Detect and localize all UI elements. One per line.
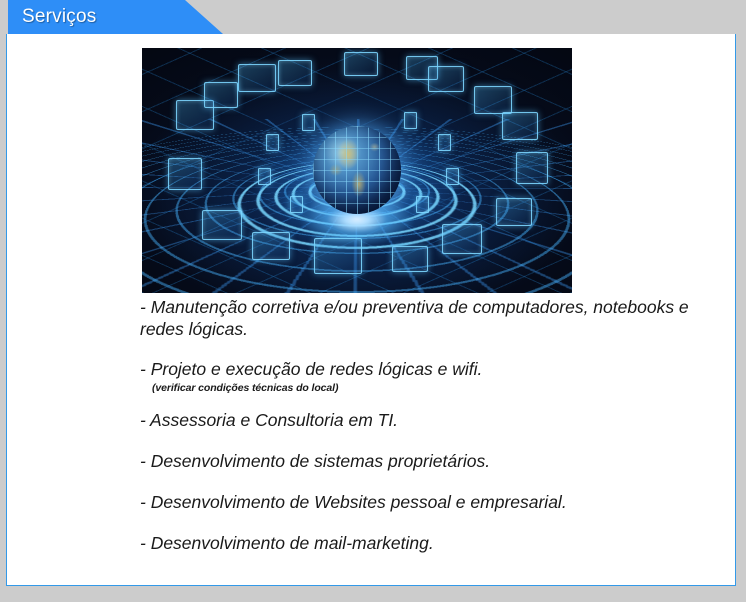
content-panel: - Manutenção corretiva e/ou preventiva d… <box>6 33 736 586</box>
service-item: - Projeto e execução de redes lógicas e … <box>140 358 700 380</box>
device-monitor-icon <box>202 210 242 240</box>
device-monitor-icon <box>474 86 512 114</box>
service-item: - Assessoria e Consultoria em TI. <box>140 409 700 431</box>
globe-icon <box>313 126 401 214</box>
document-icon <box>404 112 417 129</box>
document-icon <box>416 196 429 213</box>
device-monitor-icon <box>502 112 538 140</box>
tab-servicos-label: Serviços <box>22 5 223 29</box>
service-item: - Desenvolvimento de mail-marketing. <box>140 532 700 554</box>
document-icon <box>266 134 279 151</box>
document-icon <box>438 134 451 151</box>
device-monitor-icon <box>496 198 532 226</box>
device-monitor-icon <box>252 232 290 260</box>
document-icon <box>446 168 459 185</box>
device-monitor-icon <box>516 152 548 184</box>
device-monitor-icon <box>392 246 428 272</box>
globe-wire-grid <box>313 126 401 214</box>
tab-bar: Serviços <box>0 0 746 34</box>
document-icon <box>302 114 315 131</box>
service-item: - Desenvolvimento de Websites pessoal e … <box>140 491 700 513</box>
global-network-illustration <box>142 48 572 293</box>
tab-servicos[interactable]: Serviços <box>8 0 223 34</box>
document-icon <box>258 168 271 185</box>
services-list: - Manutenção corretiva e/ou preventiva d… <box>140 296 700 573</box>
content-inner: - Manutenção corretiva e/ou preventiva d… <box>7 34 735 585</box>
service-item-note: (verificar condições técnicas do local) <box>152 382 700 395</box>
device-monitor-icon <box>428 66 464 92</box>
device-monitor-icon <box>278 60 312 86</box>
device-monitor-icon <box>442 224 482 254</box>
device-monitor-icon <box>344 52 378 76</box>
service-item: - Desenvolvimento de sistemas proprietár… <box>140 450 700 472</box>
device-monitor-icon <box>238 64 276 92</box>
service-item: - Manutenção corretiva e/ou preventiva d… <box>140 296 700 340</box>
device-monitor-icon <box>314 238 362 274</box>
device-monitor-icon <box>168 158 202 190</box>
device-monitor-icon <box>204 82 238 108</box>
document-icon <box>290 196 303 213</box>
